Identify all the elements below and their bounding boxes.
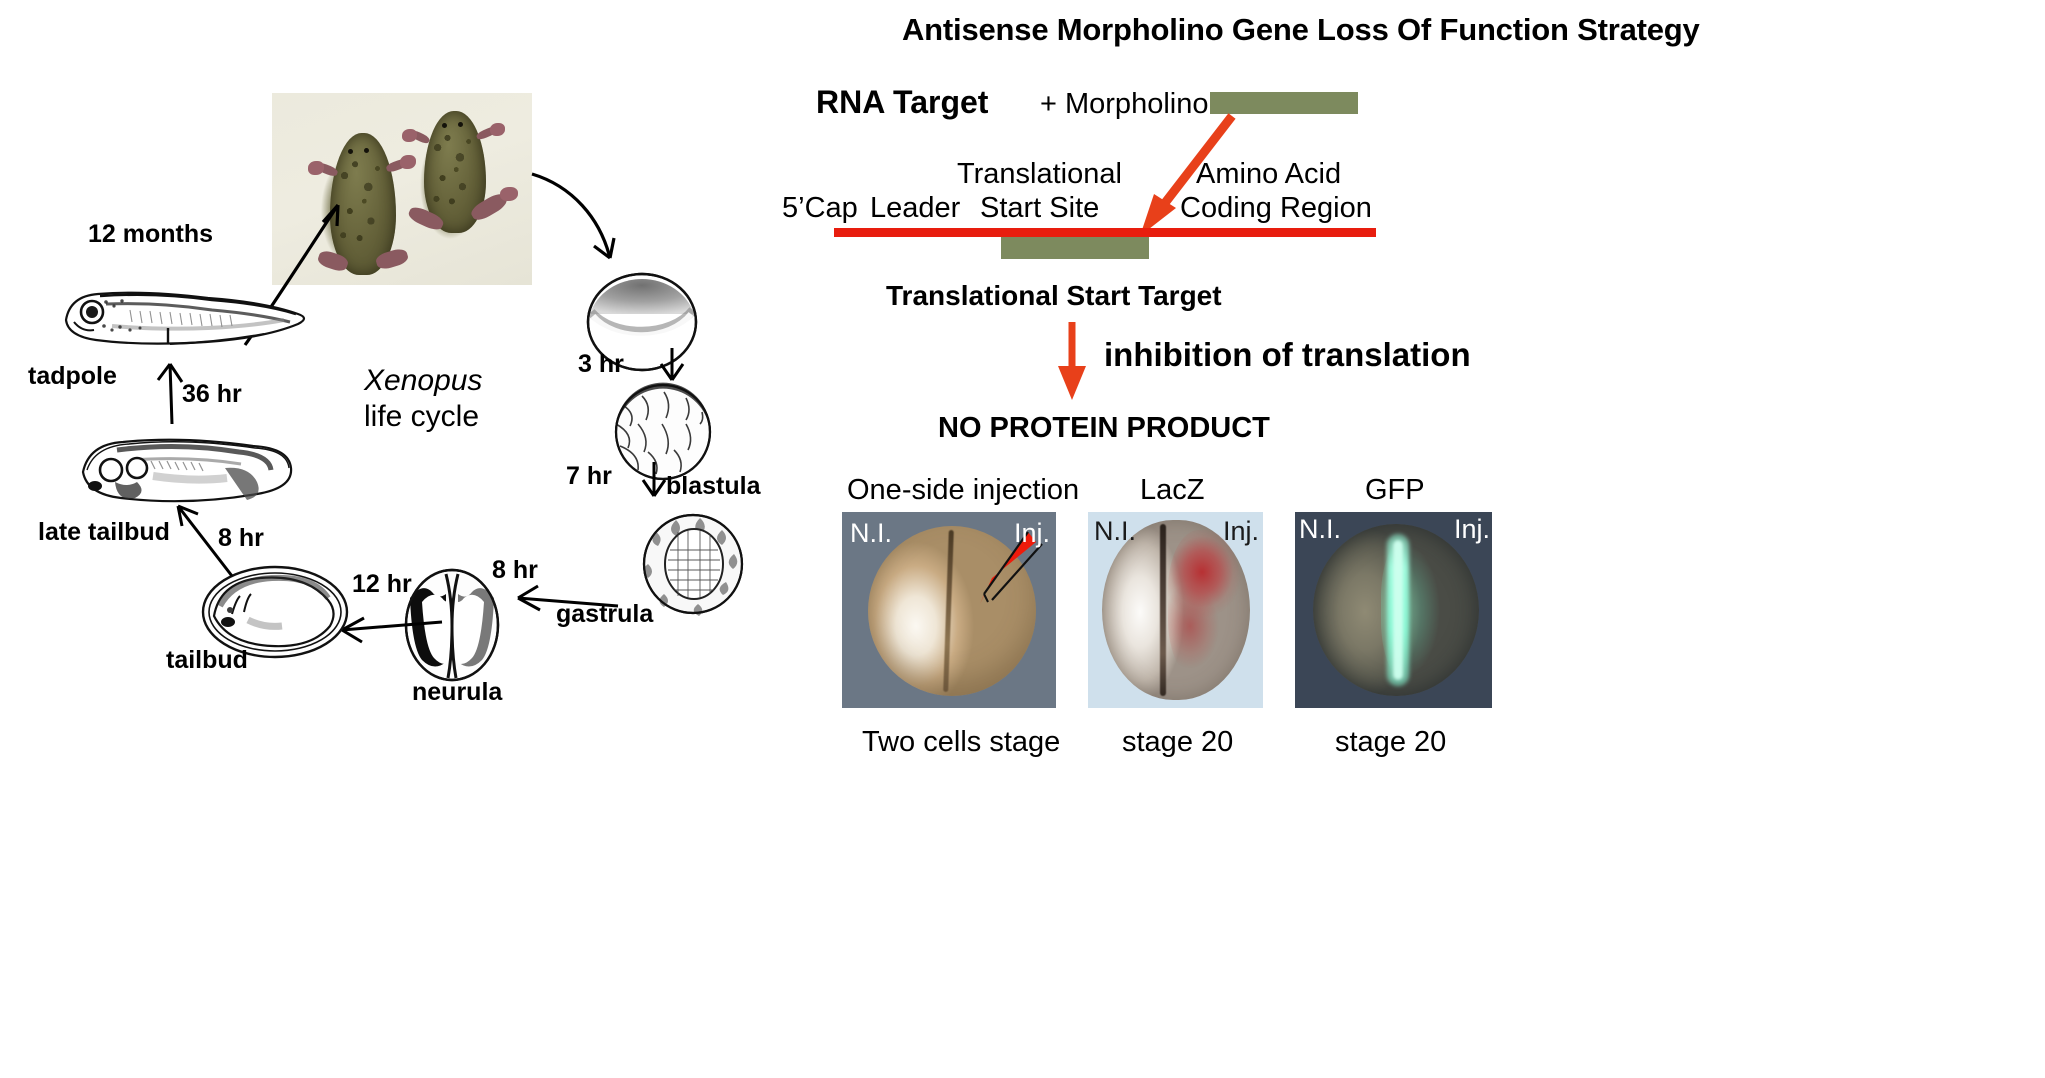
timing-7-hr: 7 hr (566, 462, 612, 491)
life-cycle-caption-text: life cycle (364, 400, 479, 434)
tag-injected-2: Inj. (1223, 516, 1259, 547)
stage-label-late-tailbud: late tailbud (38, 518, 170, 547)
tag-not-injected-3: N.I. (1299, 514, 1341, 545)
arrow-adult-to-egg (530, 170, 640, 280)
gfp-stripe-core (1393, 540, 1403, 680)
region-label-cap: 5’Cap (782, 192, 858, 225)
region-label-start-site-line2: Start Site (980, 192, 1099, 225)
tag-not-injected-2: N.I. (1094, 516, 1136, 547)
arrow-gastrula-to-neurula (512, 582, 622, 624)
photo-one-side-injection: N.I. Inj. (842, 512, 1056, 708)
stage-label-neurula: neurula (412, 678, 502, 707)
lacz-stain (1168, 530, 1244, 680)
panel-header-gfp: GFP (1365, 474, 1425, 507)
panel-header-lacz: LacZ (1140, 474, 1204, 507)
morpholino-bar-bound (1001, 237, 1149, 259)
caption-gfp-stage: stage 20 (1335, 726, 1446, 759)
stage-gastrula (638, 510, 748, 618)
timing-12-months: 12 months (88, 220, 213, 249)
timing-36-hr: 36 hr (182, 380, 242, 409)
tag-not-injected-1: N.I. (850, 518, 892, 549)
tag-injected-1: Inj. (1014, 518, 1050, 549)
stage-label-blastula: blastula (666, 472, 760, 501)
translational-start-target-label: Translational Start Target (886, 280, 1222, 312)
arrow-late-tailbud-to-tadpole (150, 358, 190, 426)
rna-target-label: RNA Target (816, 84, 988, 121)
morpholino-strategy-panel: RNA Target + Morpholino 5’Cap Leader Tra… (1010, 0, 2045, 1078)
arrow-neurula-to-tailbud (336, 604, 446, 646)
region-label-coding-line2: Coding Region (1180, 192, 1372, 225)
morpholino-bar-legend (1210, 92, 1358, 114)
caption-two-cells-stage: Two cells stage (862, 726, 1060, 759)
timing-12-hr: 12 hr (352, 570, 412, 599)
life-cycle-caption-genus: Xenopus (364, 364, 482, 398)
inhibition-arrow (1050, 320, 1096, 402)
frog-right (412, 103, 512, 253)
stage-label-tailbud: tailbud (166, 646, 248, 675)
caption-lacz-stage: stage 20 (1122, 726, 1233, 759)
region-label-coding-line1: Amino Acid (1196, 158, 1341, 191)
photo-gfp: N.I. Inj. (1295, 512, 1492, 708)
region-label-start-site-line1: Translational (957, 158, 1122, 191)
lacz-midline (1160, 524, 1166, 696)
rna-strand-line (834, 228, 1376, 237)
panel-header-one-side-injection: One-side injection (847, 474, 1079, 507)
stage-tadpole (60, 282, 305, 364)
region-label-leader: Leader (870, 192, 960, 225)
stage-late-tailbud (75, 428, 295, 513)
arrow-egg-to-blastula (652, 346, 692, 386)
tag-injected-3: Inj. (1454, 514, 1490, 545)
photo-lacz: N.I. Inj. (1088, 512, 1263, 708)
inhibition-label: inhibition of translation (1104, 336, 1471, 374)
no-protein-product-label: NO PROTEIN PRODUCT (938, 412, 1270, 445)
stage-label-tadpole: tadpole (28, 362, 117, 391)
timing-3-hr: 3 hr (578, 350, 624, 379)
